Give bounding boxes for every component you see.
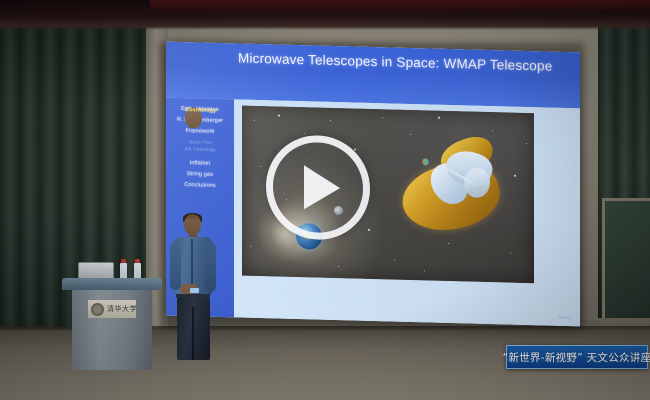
chalk-tray bbox=[600, 318, 650, 324]
slide-photo-space-scene bbox=[242, 106, 534, 284]
university-plaque: 清华大学 bbox=[88, 300, 136, 318]
sidebar-item-cosmology[interactable]: Cosmology bbox=[185, 107, 202, 128]
sidebar-spacer bbox=[166, 152, 234, 158]
chalkboard bbox=[602, 198, 650, 324]
speaker bbox=[168, 214, 218, 360]
ceiling-trim bbox=[150, 0, 650, 10]
sidebar-item-conclusions[interactable]: Conclusions bbox=[169, 182, 231, 191]
banner-text: “新世界-新视野” 天文公众讲座 bbox=[503, 350, 650, 365]
play-button[interactable] bbox=[266, 134, 370, 241]
university-name: 清华大学 bbox=[107, 304, 137, 314]
speaker-arm-right bbox=[205, 242, 216, 292]
projection-screen: Microwave Telescopes in Space: WMAP Tele… bbox=[166, 42, 580, 327]
speaker-badge bbox=[190, 288, 199, 293]
lectern: 清华大学 bbox=[62, 278, 162, 370]
speaker-head bbox=[184, 214, 201, 235]
satellite-highlight bbox=[422, 158, 429, 165]
slide-body: NASA bbox=[234, 99, 580, 326]
lectern-body: 清华大学 bbox=[72, 290, 152, 370]
lectern-top bbox=[62, 278, 162, 290]
presentation-slide: Microwave Telescopes in Space: WMAP Tele… bbox=[166, 42, 580, 327]
sidebar-item-string-gas[interactable]: String gas bbox=[169, 171, 231, 180]
sidebar-item-inflation[interactable]: Inflation bbox=[169, 160, 231, 169]
sidebar-item-framework[interactable]: Framework bbox=[169, 128, 231, 137]
wmap-satellite bbox=[394, 128, 520, 249]
lower-third-banner: “新世界-新视野” 天文公众讲座 bbox=[506, 345, 648, 369]
video-frame: Microwave Telescopes in Space: WMAP Tele… bbox=[0, 0, 650, 400]
photo-credit: NASA bbox=[558, 315, 572, 320]
slide-title: Microwave Telescopes in Space: WMAP Tele… bbox=[238, 50, 568, 75]
play-icon bbox=[304, 165, 340, 210]
university-seal-icon bbox=[91, 303, 104, 316]
speaker-trousers bbox=[177, 297, 210, 360]
speaker-arm-left bbox=[170, 242, 181, 290]
